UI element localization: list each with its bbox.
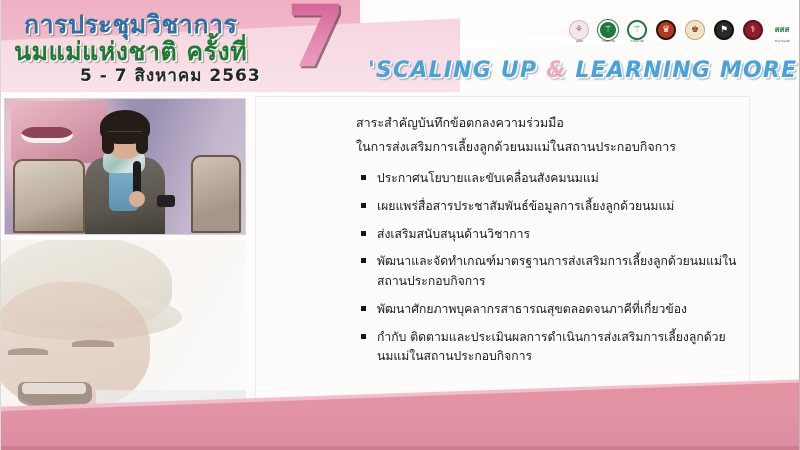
presentation-slide: การประชุมวิชาการ นมแม่แห่งชาติ ครั้งที่ … bbox=[0, 0, 800, 450]
slide-header-banner: การประชุมวิชาการ นมแม่แห่งชาติ ครั้งที่ … bbox=[0, 0, 800, 92]
bottom-banner-edge bbox=[0, 446, 800, 450]
logo-ministry-public-health-green-icon: ⚚ กรมอนามัย bbox=[596, 20, 620, 50]
logo-medical-council-maroon-icon: ⚕ bbox=[741, 20, 765, 50]
bullet-text: ประกาศนโยบายและขับเคลื่อนสังคมนมแม่ bbox=[377, 171, 599, 185]
list-item: กำกับ ติดตามและประเมินผลการดำเนินการส่งเ… bbox=[361, 328, 741, 368]
agreement-bullet-list: ประกาศนโยบายและขับเคลื่อนสังคมนมแม่ เผยแ… bbox=[361, 169, 741, 375]
child-teeth bbox=[22, 383, 86, 394]
bullet-square-icon bbox=[361, 231, 366, 236]
slide-content-panel: สาระสำคัญบันทึกข้อตกลงความร่วมมือ ในการส… bbox=[255, 96, 750, 412]
child-photo bbox=[0, 240, 246, 415]
conference-slogan: 'SCALING UP & LEARNING MORE' bbox=[368, 58, 800, 83]
child-eye-left bbox=[8, 348, 48, 355]
sponsor-logo-row: ⚘ มูลนิธิ ⚚ กรมอนามัย ⚚ กรมอนามัย ♛ ♚ ⚑ bbox=[567, 20, 794, 50]
logo-thaihealth-sss-icon: สสส Thai Health bbox=[770, 20, 794, 50]
slide-lead-text: สาระสำคัญบันทึกข้อตกลงความร่วมมือ ในการส… bbox=[356, 111, 736, 159]
bullet-square-icon bbox=[361, 334, 366, 339]
backdrop-mouth-graphic bbox=[11, 101, 107, 163]
microphone-icon bbox=[133, 161, 141, 195]
bullet-square-icon bbox=[361, 306, 366, 311]
speaker-video-thumbnail[interactable] bbox=[4, 98, 246, 235]
logo-institute-black-icon: ⚑ bbox=[712, 20, 736, 50]
bullet-text: เผยแพร่สื่อสารประชาสัมพันธ์ข้อมูลการเลี้… bbox=[377, 199, 674, 213]
slogan-ampersand: & bbox=[546, 58, 566, 83]
speaker-glasses bbox=[108, 131, 142, 139]
child-shirt bbox=[96, 390, 246, 415]
bullet-square-icon bbox=[361, 175, 366, 180]
list-item: พัฒนาและจัดทำเกณฑ์มาตรฐานการส่งเสริมการเ… bbox=[361, 252, 741, 292]
bullet-text: พัฒนาและจัดทำเกณฑ์มาตรฐานการส่งเสริมการเ… bbox=[377, 254, 736, 288]
logo-royal-crest-gold-icon: ♚ bbox=[683, 20, 707, 50]
list-item: เผยแพร่สื่อสารประชาสัมพันธ์ข้อมูลการเลี้… bbox=[361, 197, 741, 217]
list-item: ส่งเสริมสนับสนุนด้านวิชาการ bbox=[361, 225, 741, 245]
bullet-square-icon bbox=[361, 203, 366, 208]
logo-thai-royal-emblem-icon: ⚘ มูลนิธิ bbox=[567, 20, 591, 50]
armchair-right bbox=[191, 155, 241, 233]
presenter-remote bbox=[157, 195, 175, 207]
armchair-left bbox=[13, 159, 85, 233]
bullet-text: พัฒนาศักยภาพบุคลากรสาธารณสุขตลอดจนภาคีที… bbox=[377, 302, 687, 316]
slide-frame-left-border bbox=[0, 0, 1, 450]
bullet-square-icon bbox=[361, 258, 366, 263]
lead-line-2: ในการส่งเสริมการเลี้ยงลูกด้วยนมแม่ในสถาน… bbox=[356, 135, 736, 159]
logo-university-crest-red-icon: ♛ bbox=[654, 20, 678, 50]
list-item: พัฒนาศักยภาพบุคลากรสาธารณสุขตลอดจนภาคีที… bbox=[361, 300, 741, 320]
bullet-text: กำกับ ติดตามและประเมินผลการดำเนินการส่งเ… bbox=[377, 330, 726, 364]
lead-line-1: สาระสำคัญบันทึกข้อตกลงความร่วมมือ bbox=[356, 111, 736, 135]
speaker-hand bbox=[129, 191, 145, 207]
logo-department-health-icon: ⚚ กรมอนามัย bbox=[625, 20, 649, 50]
child-eye-right bbox=[72, 340, 114, 347]
list-item: ประกาศนโยบายและขับเคลื่อนสังคมนมแม่ bbox=[361, 169, 741, 189]
bullet-text: ส่งเสริมสนับสนุนด้านวิชาการ bbox=[377, 227, 530, 241]
slogan-part-close: LEARNING MORE' bbox=[567, 58, 800, 83]
slogan-part-open: 'SCALING UP bbox=[368, 58, 546, 83]
conference-date: 5 - 7 สิงหาคม 2563 bbox=[80, 62, 261, 89]
conference-edition-number: 7 bbox=[286, 0, 346, 80]
